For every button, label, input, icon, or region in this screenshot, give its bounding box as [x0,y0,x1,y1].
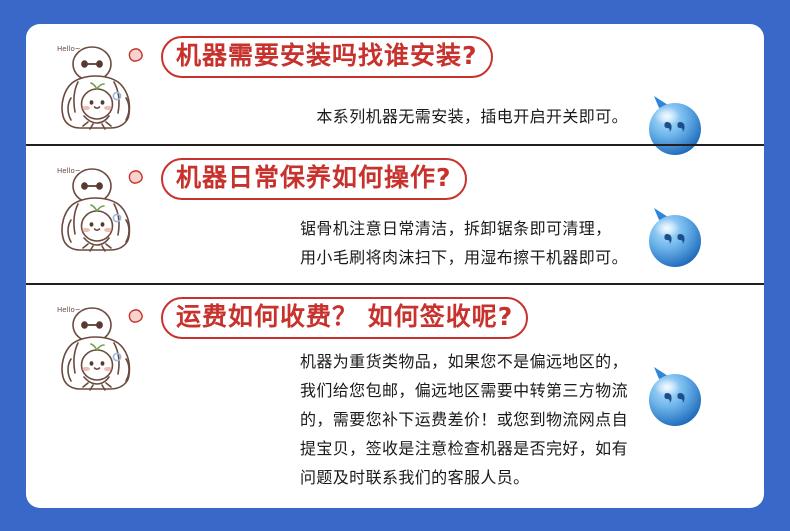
faq-title-wrap: 运费如何收费？ 如何签收呢? [161,297,528,339]
faq-card: Hello~ 运费如何收费？ 如何签收呢? 机器为重货类物品，如果您不是偏远地区… [26,285,764,508]
mascot-greeting-text: Hello~ [57,167,81,175]
faq-title-wrap: 机器需要安装吗找谁安装? [161,36,493,78]
baymax-mascot-icon: Hello~ [48,160,152,260]
speech-bubble-icon [646,208,704,270]
faq-answer-text: 锯骨机注意日常清洁，拆卸锯条即可清理， 用小毛刷将肉沫扫下，用湿布擦干机器即可。 [300,214,628,272]
faq-card: Hello~ 机器需要安装吗找谁安装? 本系列机器无需安装，插电开启开关即可。 [26,24,764,146]
faq-title-wrap: 机器日常保养如何操作? [161,158,467,200]
faq-panel: Hello~ 机器需要安装吗找谁安装? 本系列机器无需安装，插电开启开关即可。 [26,24,764,508]
faq-title: 运费如何收费？ 如何签收呢? [161,297,528,339]
baymax-mascot-icon: Hello~ [48,38,152,138]
speech-bubble-icon [646,367,704,429]
faq-answer-text: 机器为重货类物品，如果您不是偏远地区的， 我们给您包邮，偏远地区需要中转第三方物… [300,347,628,492]
faq-title: 机器日常保养如何操作? [161,158,467,200]
baymax-mascot-icon: Hello~ [48,299,152,399]
faq-card: Hello~ 机器日常保养如何操作? 锯骨机注意日常清洁，拆卸锯条即可清理， 用… [26,146,764,285]
faq-title: 机器需要安装吗找谁安装? [161,36,493,78]
faq-answer-text: 本系列机器无需安装，插电开启开关即可。 [316,102,628,131]
mascot-greeting-text: Hello~ [57,306,81,314]
mascot-greeting-text: Hello~ [57,45,81,53]
